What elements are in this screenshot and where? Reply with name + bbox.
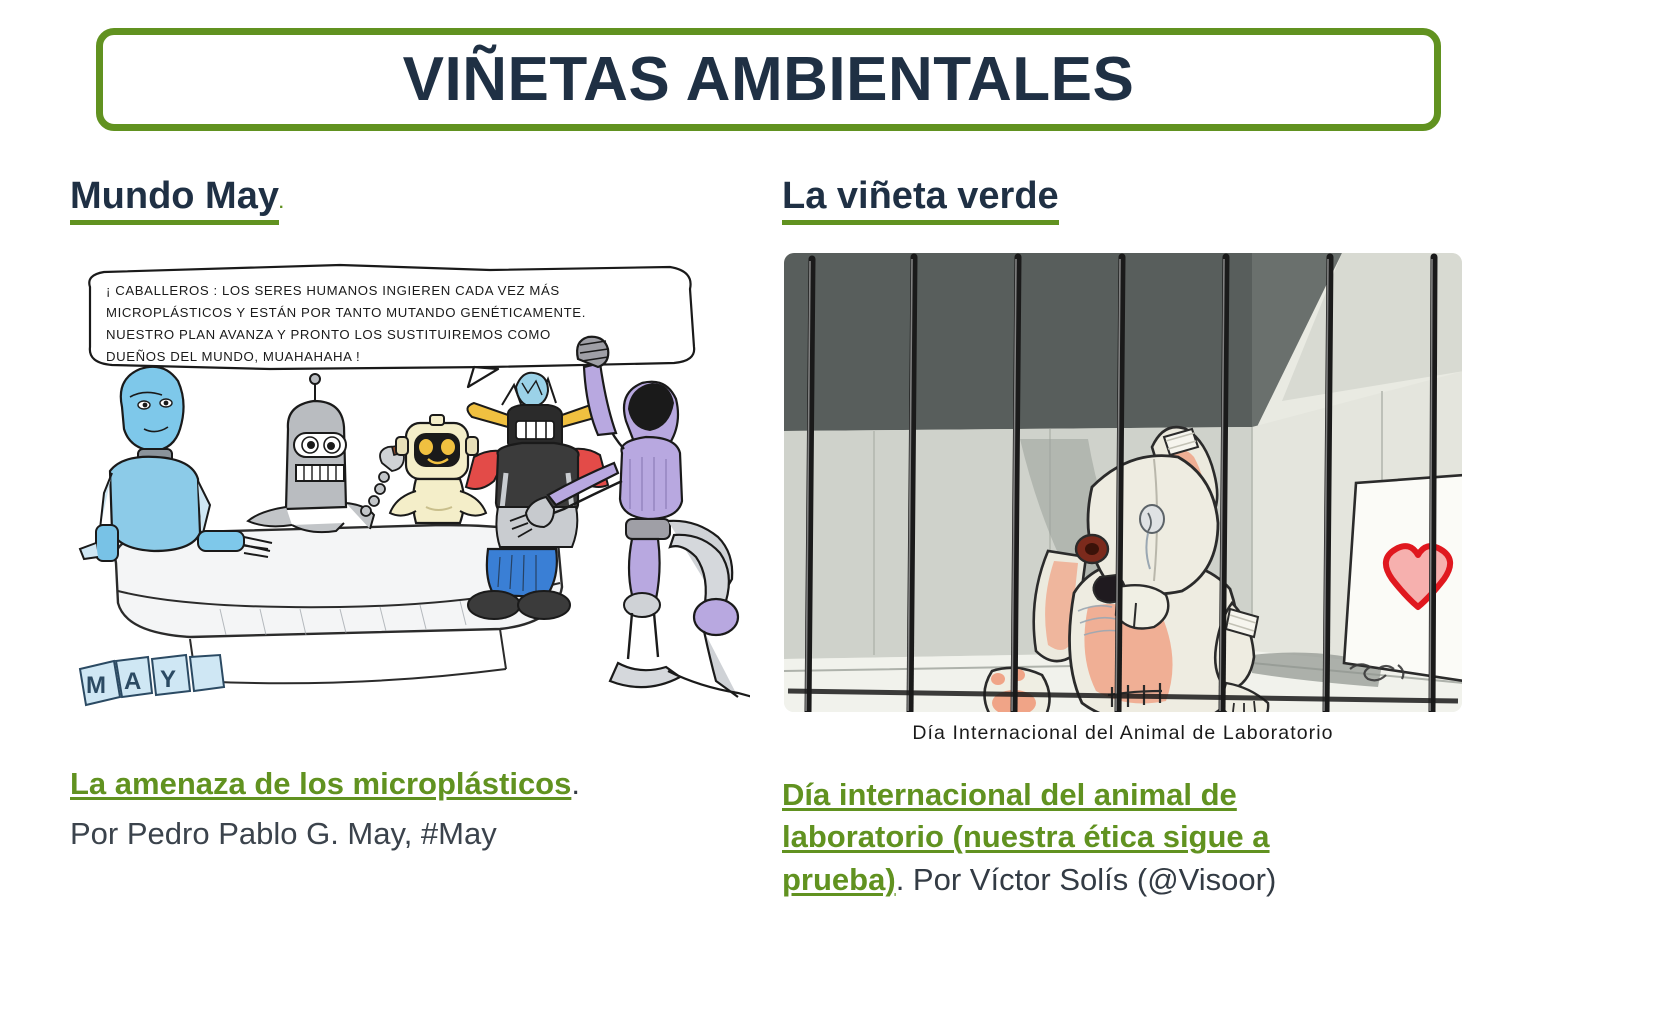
svg-text:DUEÑOS DEL MUNDO, MUAHAHAHA !: DUEÑOS DEL MUNDO, MUAHAHAHA ! xyxy=(106,349,360,364)
svg-text:M: M xyxy=(86,672,106,699)
caption-right: Día internacional del animal de laborato… xyxy=(782,774,1482,902)
svg-text:¡ CABALLEROS : LOS SERES HUMAN: ¡ CABALLEROS : LOS SERES HUMANOS INGIERE… xyxy=(106,283,560,298)
white-card-with-red-heart xyxy=(1344,475,1464,681)
byline-right: Por Víctor Solís (@Visoor) xyxy=(913,862,1276,897)
article-link-microplastics[interactable]: La amenaza de los microplásticos xyxy=(70,766,571,801)
caption-right-period: . xyxy=(896,862,913,897)
page-title: VIÑETAS AMBIENTALES xyxy=(403,49,1135,111)
caption-left-period: . xyxy=(571,766,580,801)
column-left: Mundo May. ¡ CABALLEROS : LOS SERES HUMA… xyxy=(70,175,760,856)
article-link-lab-animal-line-3[interactable]: prueba) xyxy=(782,862,896,897)
cartoon-embedded-caption: Día Internacional del Animal de Laborato… xyxy=(912,722,1333,744)
article-link-lab-animal-line-2[interactable]: laboratorio (nuestra ética sigue a xyxy=(782,819,1270,854)
microplastics-robots-cartoon: ¡ CABALLEROS : LOS SERES HUMANOS INGIERE… xyxy=(70,257,750,727)
caption-right-line-2: laboratorio (nuestra ética sigue a xyxy=(782,816,1482,859)
svg-text:Y: Y xyxy=(160,666,176,693)
section-heading-mundo-may[interactable]: Mundo May xyxy=(70,175,279,225)
article-link-lab-animal-line-1[interactable]: Día internacional del animal de xyxy=(782,777,1237,812)
lab-animal-rabbit-cage-cartoon: Día Internacional del Animal de Laborato… xyxy=(782,251,1464,754)
section-heading-vineta-verde[interactable]: La viñeta verde xyxy=(782,175,1059,225)
caption-right-line-3: prueba). Por Víctor Solís (@Visoor) xyxy=(782,859,1482,902)
caption-right-line-1: Día internacional del animal de xyxy=(782,774,1482,817)
column-right: La viñeta verde xyxy=(782,175,1482,902)
page-title-banner: VIÑETAS AMBIENTALES xyxy=(96,28,1441,131)
caption-left: La amenaza de los microplásticos. Por Pe… xyxy=(70,763,760,857)
svg-text:NUESTRO PLAN AVANZA Y PRONTO: NUESTRO PLAN AVANZA Y PRONTO LOS SUSTITU… xyxy=(106,327,551,342)
svg-text:MICROPLÁSTICOS Y ESTÁN POR TA: MICROPLÁSTICOS Y ESTÁN POR TANTO MUTANDO… xyxy=(106,305,586,320)
svg-text:A: A xyxy=(124,668,141,695)
section-heading-mundo-may-wrap: Mundo May. xyxy=(70,175,760,225)
byline-left: Por Pedro Pablo G. May, #May xyxy=(70,813,760,856)
section-heading-mundo-may-dot: . xyxy=(279,195,283,212)
section-heading-vineta-verde-wrap: La viñeta verde xyxy=(782,175,1482,225)
